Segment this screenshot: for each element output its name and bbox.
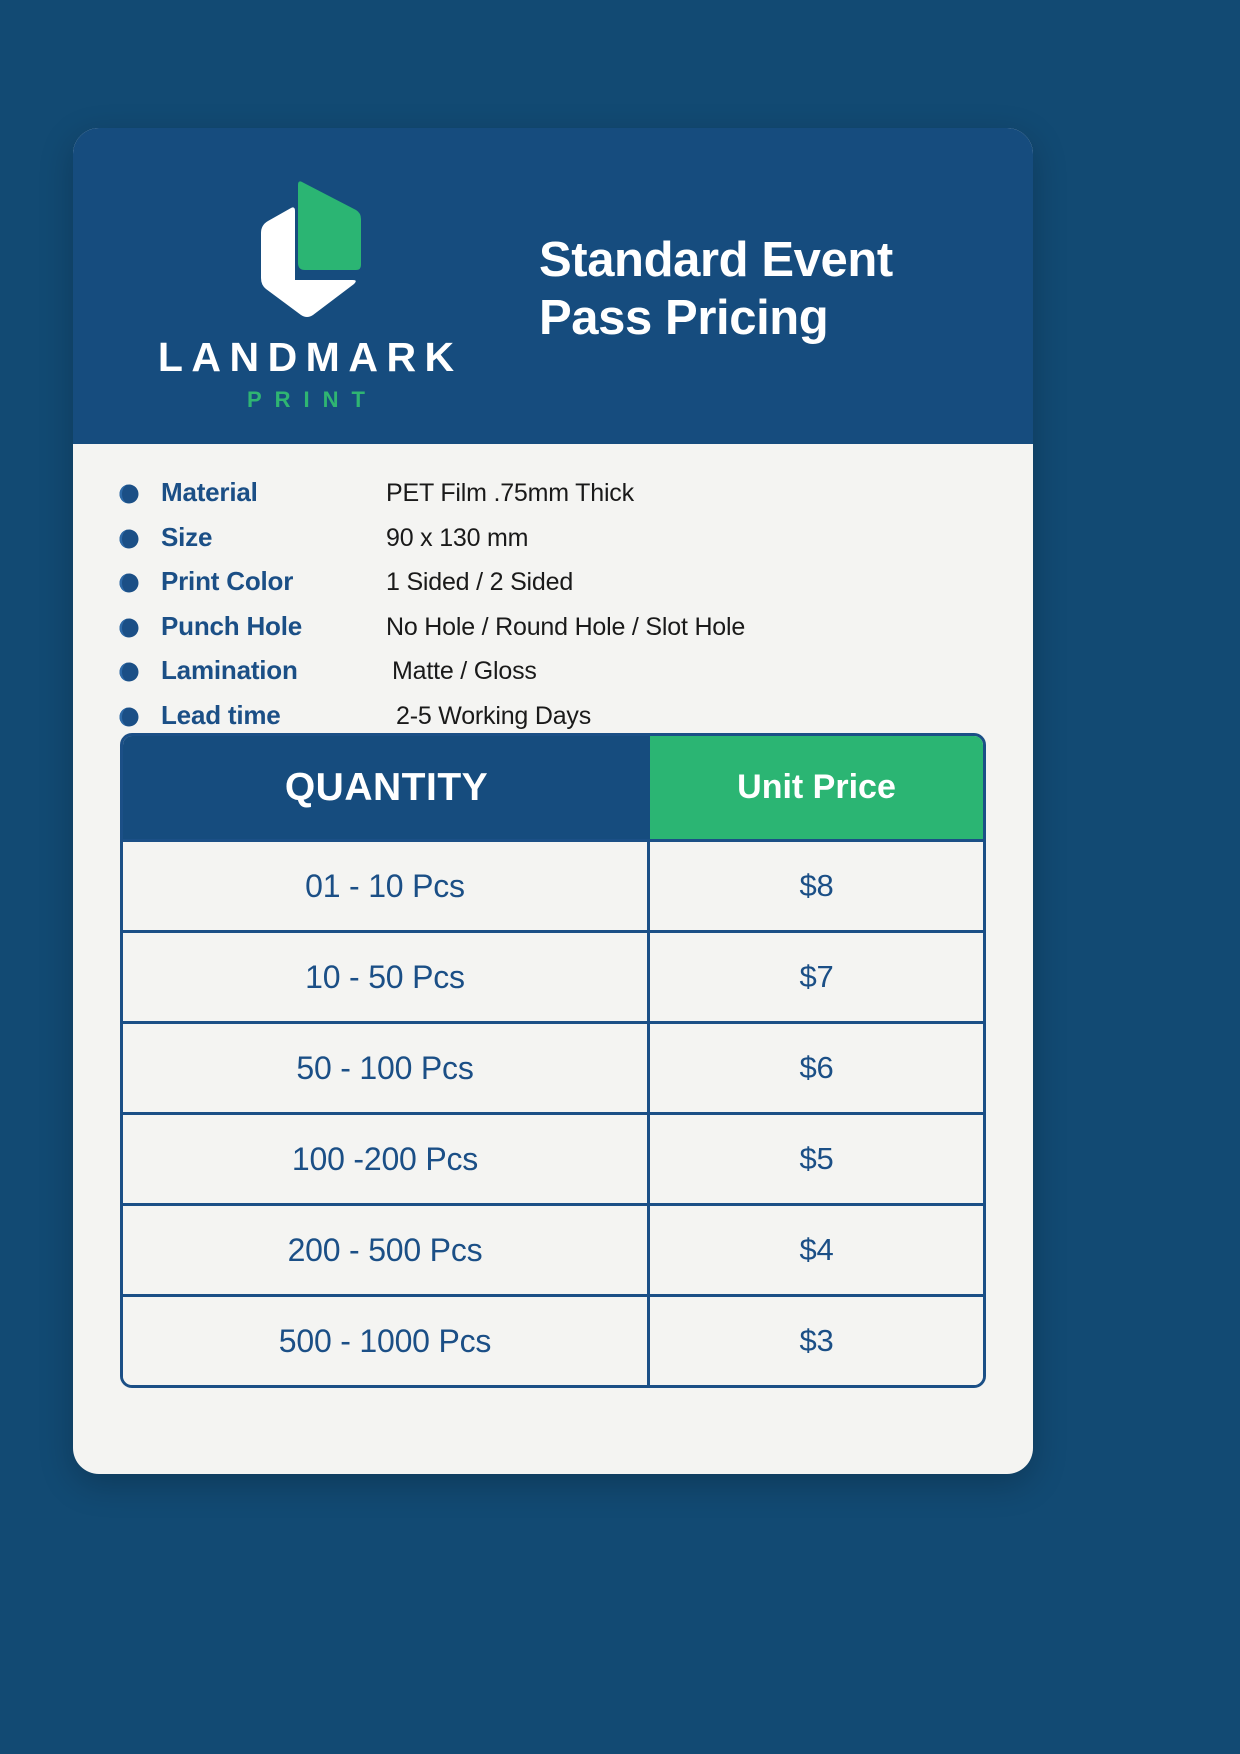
spec-value: 1 Sided / 2 Sided: [386, 568, 573, 597]
cell-quantity: 01 - 10 Pcs: [123, 842, 650, 930]
page-title-line-1: Standard Event: [539, 232, 1005, 290]
pricing-table: QUANTITY Unit Price 01 - 10 Pcs $8 10 - …: [120, 733, 986, 1388]
page-title: Standard Event Pass Pricing: [539, 232, 1033, 348]
card-header: LANDMARK PRINT Standard Event Pass Prici…: [73, 128, 1033, 444]
spec-row: Print Color 1 Sided / 2 Sided: [119, 566, 1033, 611]
cell-unit-price: $6: [650, 1024, 983, 1112]
cell-quantity: 500 - 1000 Pcs: [123, 1297, 650, 1385]
spec-label: Lamination: [161, 655, 386, 686]
spec-label: Size: [161, 522, 386, 553]
circle-bullet-icon: [119, 573, 139, 593]
circle-bullet-icon: [119, 529, 139, 549]
spec-list: Material PET Film .75mm Thick Size 90 x …: [73, 444, 1033, 744]
cell-quantity: 50 - 100 Pcs: [123, 1024, 650, 1112]
spec-value: 90 x 130 mm: [386, 524, 528, 553]
cell-unit-price: $3: [650, 1297, 983, 1385]
landmark-l-monogram-icon: [235, 179, 377, 319]
spec-row: Material PET Film .75mm Thick: [119, 477, 1033, 522]
brand-block: LANDMARK PRINT: [73, 128, 539, 444]
cell-quantity: 10 - 50 Pcs: [123, 933, 650, 1021]
spec-row: Size 90 x 130 mm: [119, 522, 1033, 567]
table-row: 01 - 10 Pcs $8: [123, 839, 983, 930]
spec-label: Print Color: [161, 566, 386, 597]
spec-row: Punch Hole No Hole / Round Hole / Slot H…: [119, 611, 1033, 656]
spec-label: Lead time: [161, 700, 386, 731]
circle-bullet-icon: [119, 618, 139, 638]
table-header-row: QUANTITY Unit Price: [123, 736, 983, 839]
spec-value: No Hole / Round Hole / Slot Hole: [386, 613, 745, 642]
spec-value: Matte / Gloss: [386, 657, 537, 686]
cell-unit-price: $4: [650, 1206, 983, 1294]
brand-subname: PRINT: [234, 389, 378, 411]
cell-quantity: 100 -200 Pcs: [123, 1115, 650, 1203]
brand-name: LANDMARK: [149, 337, 462, 378]
circle-bullet-icon: [119, 484, 139, 504]
pricing-poster-page: LANDMARK PRINT Standard Event Pass Prici…: [0, 0, 1240, 1754]
column-header-quantity: QUANTITY: [123, 736, 650, 839]
table-row: 50 - 100 Pcs $6: [123, 1021, 983, 1112]
cell-unit-price: $8: [650, 842, 983, 930]
spec-value: 2-5 Working Days: [386, 702, 591, 731]
table-row: 100 -200 Pcs $5: [123, 1112, 983, 1203]
spec-value: PET Film .75mm Thick: [386, 479, 634, 508]
spec-row: Lamination Matte / Gloss: [119, 655, 1033, 700]
table-row: 200 - 500 Pcs $4: [123, 1203, 983, 1294]
cell-unit-price: $5: [650, 1115, 983, 1203]
circle-bullet-icon: [119, 662, 139, 682]
pricing-card: LANDMARK PRINT Standard Event Pass Prici…: [73, 128, 1033, 1474]
page-title-line-2: Pass Pricing: [539, 290, 1005, 348]
spec-label: Material: [161, 477, 386, 508]
column-header-unit-price: Unit Price: [650, 736, 983, 839]
spec-label: Punch Hole: [161, 611, 386, 642]
cell-quantity: 200 - 500 Pcs: [123, 1206, 650, 1294]
circle-bullet-icon: [119, 707, 139, 727]
cell-unit-price: $7: [650, 933, 983, 1021]
table-row: 500 - 1000 Pcs $3: [123, 1294, 983, 1385]
table-row: 10 - 50 Pcs $7: [123, 930, 983, 1021]
